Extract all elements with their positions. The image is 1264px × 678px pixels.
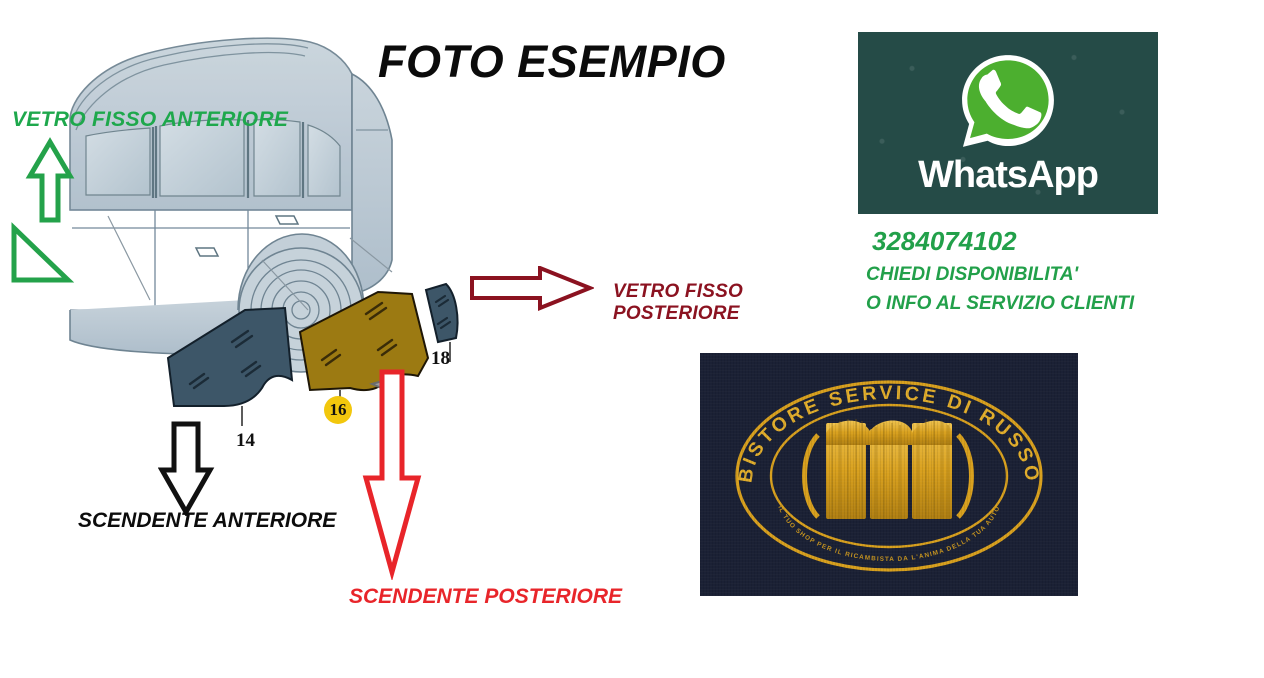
contact-line-2: O INFO AL SERVIZIO CLIENTI (866, 293, 1134, 315)
part-number-14: 14 (236, 430, 255, 452)
whatsapp-banner[interactable]: WhatsApp (858, 32, 1158, 214)
contact-line-1: CHIEDI DISPONIBILITA' (866, 264, 1078, 286)
part-number-16-badge: 16 (324, 396, 352, 424)
label-vetro-fisso-posteriore-line1: VETRO FISSO (613, 281, 743, 303)
down-arrow-black-icon (158, 420, 216, 516)
phone-number[interactable]: 3284074102 (872, 226, 1017, 257)
fabric-texture (700, 353, 1078, 596)
down-arrow-red-icon (360, 368, 424, 580)
label-vetro-fisso-anteriore: VETRO FISSO ANTERIORE (12, 108, 288, 133)
page-title: FOTO ESEMPIO (378, 36, 726, 88)
brand-logo-photo: MRICAMBISTORE SERVICE DI RUSSO MARCO (700, 353, 1078, 596)
part-number-18: 18 (431, 348, 450, 370)
label-scendente-anteriore: SCENDENTE ANTERIORE (78, 509, 336, 534)
right-arrow-darkred-icon (468, 266, 594, 312)
whatsapp-icon (955, 48, 1061, 154)
label-vetro-fisso-posteriore-line2: POSTERIORE (613, 303, 743, 325)
poster-canvas: 14 16 17 18 FOTO ESEMPIO VETRO FISSO ANT… (0, 0, 1264, 678)
part-18-shape (426, 284, 458, 342)
label-vetro-fisso-posteriore: VETRO FISSO POSTERIORE (613, 281, 743, 326)
label-scendente-posteriore: SCENDENTE POSTERIORE (349, 585, 622, 610)
whatsapp-wordmark: WhatsApp (858, 154, 1158, 197)
part-14-shape (168, 308, 292, 406)
up-arrow-green-icon (6, 136, 80, 286)
